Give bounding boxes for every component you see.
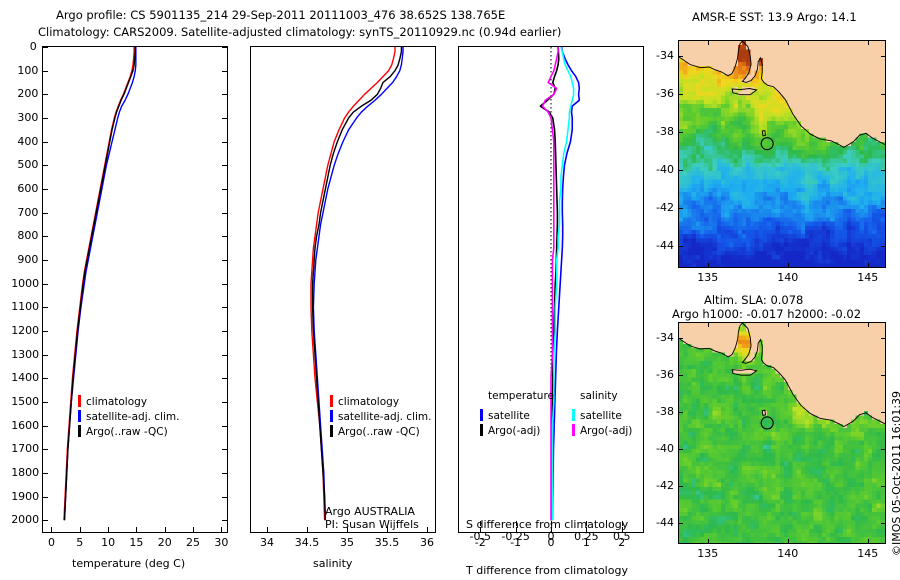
tick-mark — [708, 323, 709, 327]
tick-mark — [679, 94, 683, 95]
temp-legend-row: Argo(..raw -QC) — [78, 420, 168, 439]
depth-tick-400: 400 — [17, 135, 37, 148]
tick-mark — [679, 56, 683, 57]
tick-mark — [868, 41, 869, 45]
sla-map-ytick--40: -40 — [648, 442, 674, 455]
tick-mark — [427, 527, 428, 532]
sst-map-ytick--40: -40 — [648, 163, 674, 176]
page-title-line2: Climatology: CARS2009. Satellite-adjuste… — [38, 25, 561, 39]
tick-mark — [222, 520, 227, 521]
tick-mark — [222, 71, 227, 72]
tick-mark — [43, 118, 48, 119]
tick-mark — [43, 307, 48, 308]
tick-mark — [881, 338, 885, 339]
tick-mark — [222, 260, 227, 261]
sla-map-title-line2: Argo h1000: -0.017 h2000: -0.02 — [672, 307, 861, 321]
tick-mark — [222, 142, 227, 143]
tick-mark — [80, 527, 81, 532]
tick-mark — [43, 449, 48, 450]
depth-tick-900: 900 — [17, 253, 37, 266]
tick-mark — [868, 539, 869, 543]
tick-mark — [193, 527, 194, 532]
tick-mark — [43, 473, 48, 474]
sla-map-ytick--34: -34 — [648, 331, 674, 344]
sst-map-title: AMSR-E SST: 13.9 Argo: 14.1 — [692, 10, 857, 24]
depth-tick-0: 0 — [30, 40, 37, 53]
tick-mark — [43, 165, 48, 166]
tick-mark — [881, 449, 885, 450]
tick-mark — [708, 539, 709, 543]
difference-plot-panel — [458, 46, 644, 533]
sla-map-ytick--42: -42 — [648, 479, 674, 492]
sal-legend-row: Argo(..raw -QC) — [330, 420, 420, 439]
tick-mark — [43, 47, 48, 48]
sla-map-raster — [679, 323, 885, 543]
tick-mark — [222, 355, 227, 356]
temp-xtick-15: 15 — [129, 536, 143, 549]
tick-mark — [881, 486, 885, 487]
temp-xtick-30: 30 — [214, 536, 228, 549]
sla-map-ytick--36: -36 — [648, 368, 674, 381]
depth-tick-1000: 1000 — [11, 277, 37, 290]
tick-mark — [222, 94, 227, 95]
tick-mark — [43, 260, 48, 261]
salinity-profile-curves — [251, 47, 435, 532]
depth-tick-500: 500 — [17, 158, 37, 171]
tick-mark — [136, 527, 137, 532]
credit-org: Argo AUSTRALIA — [325, 505, 415, 518]
page-title-line1: Argo profile: CS 5901135_214 29-Sep-2011… — [56, 8, 505, 22]
tick-mark — [679, 412, 683, 413]
tick-mark — [708, 41, 709, 45]
sst-map-ytick--42: -42 — [648, 201, 674, 214]
sst-map-xtick-145: 145 — [854, 271, 882, 284]
sal-legend-label: Argo(..raw -QC) — [338, 426, 420, 438]
tick-mark — [222, 331, 227, 332]
diff-legend-sal-title: salinity — [580, 390, 618, 402]
diff-legend-temp-title: temperature — [488, 390, 554, 402]
tick-mark — [788, 323, 789, 327]
tick-mark — [43, 189, 48, 190]
sst-map-ytick--36: -36 — [648, 87, 674, 100]
temp-xtick-20: 20 — [158, 536, 172, 549]
tick-mark — [679, 208, 683, 209]
tick-mark — [788, 263, 789, 267]
tick-mark — [43, 213, 48, 214]
sst-map-raster — [679, 41, 885, 267]
sst-map-xtick-140: 140 — [774, 271, 802, 284]
tick-mark — [679, 246, 683, 247]
tick-mark — [222, 473, 227, 474]
tick-mark — [222, 284, 227, 285]
sal-xtick-35: 35 — [340, 536, 354, 549]
diff-legend-temp-swatch — [480, 424, 483, 436]
depth-tick-1300: 1300 — [11, 348, 37, 361]
difference-s-axis-label: S difference from climatology — [466, 518, 628, 531]
difference-profile-curves — [459, 47, 643, 532]
depth-tick-600: 600 — [17, 182, 37, 195]
tick-mark — [222, 449, 227, 450]
tick-mark — [881, 375, 885, 376]
sla-map-ytick--38: -38 — [648, 405, 674, 418]
depth-tick-1400: 1400 — [11, 371, 37, 384]
tick-mark — [43, 355, 48, 356]
sst-map[interactable] — [678, 40, 886, 268]
temp-xtick-5: 5 — [76, 536, 83, 549]
sla-map[interactable] — [678, 322, 886, 544]
tick-mark — [881, 56, 885, 57]
tick-mark — [43, 331, 48, 332]
tick-mark — [222, 497, 227, 498]
sst-map-ytick--38: -38 — [648, 125, 674, 138]
tick-mark — [881, 132, 885, 133]
tick-mark — [881, 523, 885, 524]
tick-mark — [881, 246, 885, 247]
tick-mark — [43, 94, 48, 95]
tick-mark — [679, 170, 683, 171]
sal-legend-swatch — [330, 425, 333, 437]
tick-mark — [708, 263, 709, 267]
temp-xtick-10: 10 — [101, 536, 115, 549]
tick-mark — [788, 539, 789, 543]
diff-S-xtick-0: 0 — [548, 530, 555, 543]
tick-mark — [788, 41, 789, 45]
tick-mark — [881, 412, 885, 413]
tick-mark — [222, 402, 227, 403]
tick-mark — [43, 236, 48, 237]
tick-mark — [43, 402, 48, 403]
temp-xtick-25: 25 — [186, 536, 200, 549]
sla-map-xtick-135: 135 — [694, 547, 722, 560]
tick-mark — [679, 132, 683, 133]
depth-tick-1700: 1700 — [11, 442, 37, 455]
tick-mark — [165, 527, 166, 532]
tick-mark — [43, 426, 48, 427]
diff-S-xtick--0.25: -0.25 — [498, 530, 533, 543]
diff-S-xtick-0.5: 0.5 — [611, 530, 632, 543]
tick-mark — [868, 323, 869, 327]
sal-xtick-36: 36 — [420, 536, 434, 549]
depth-tick-1100: 1100 — [11, 300, 37, 313]
temperature-x-axis-label: temperature (deg C) — [72, 557, 185, 570]
sla-map-ytick--44: -44 — [648, 516, 674, 529]
tick-mark — [51, 527, 52, 532]
tick-mark — [222, 426, 227, 427]
depth-tick-200: 200 — [17, 87, 37, 100]
tick-mark — [881, 170, 885, 171]
tick-mark — [108, 527, 109, 532]
sst-map-xtick-135: 135 — [694, 271, 722, 284]
depth-tick-300: 300 — [17, 111, 37, 124]
tick-mark — [222, 118, 227, 119]
sla-map-xtick-140: 140 — [774, 547, 802, 560]
tick-mark — [222, 47, 227, 48]
temperature-profile-curves — [43, 47, 227, 532]
temp-legend-label: Argo(..raw -QC) — [86, 426, 168, 438]
tick-mark — [222, 378, 227, 379]
sst-map-ytick--34: -34 — [648, 49, 674, 62]
depth-tick-1900: 1900 — [11, 490, 37, 503]
depth-tick-800: 800 — [17, 229, 37, 242]
tick-mark — [43, 71, 48, 72]
sal-xtick-35.5: 35.5 — [373, 536, 401, 549]
sal-xtick-34.5: 34.5 — [293, 536, 321, 549]
depth-tick-2000: 2000 — [11, 513, 37, 526]
tick-mark — [43, 378, 48, 379]
diff-S-xtick-0.25: 0.25 — [572, 530, 600, 543]
sal-xtick-34: 34 — [260, 536, 274, 549]
tick-mark — [881, 208, 885, 209]
tick-mark — [679, 523, 683, 524]
depth-tick-1500: 1500 — [11, 395, 37, 408]
imos-credit-vertical: ©IMOS 05-Oct-2011 16:01:39 — [890, 391, 900, 556]
tick-mark — [43, 497, 48, 498]
tick-mark — [222, 307, 227, 308]
depth-tick-1200: 1200 — [11, 324, 37, 337]
tick-mark — [43, 284, 48, 285]
tick-mark — [679, 338, 683, 339]
diff-legend-sal-label: Argo(-adj) — [580, 425, 632, 437]
temperature-plot-panel — [42, 46, 228, 533]
temp-xtick-0: 0 — [48, 536, 55, 549]
difference-t-axis-label: T difference from climatology — [466, 564, 628, 577]
tick-mark — [222, 236, 227, 237]
sst-map-ytick--44: -44 — [648, 239, 674, 252]
sla-map-title-line1: Altim. SLA: 0.078 — [704, 293, 803, 307]
tick-mark — [679, 375, 683, 376]
tick-mark — [881, 94, 885, 95]
credit-pi: PI: Susan Wijffels — [325, 518, 419, 531]
sla-map-xtick-145: 145 — [854, 547, 882, 560]
salinity-plot-panel — [250, 46, 436, 533]
diff-S-xtick--0.5: -0.5 — [466, 530, 494, 543]
depth-tick-700: 700 — [17, 206, 37, 219]
depth-tick-1600: 1600 — [11, 419, 37, 432]
tick-mark — [43, 520, 48, 521]
salinity-x-axis-label: salinity — [313, 557, 352, 570]
temp-legend-swatch — [78, 425, 81, 437]
diff-legend-sal-row: Argo(-adj) — [572, 419, 632, 438]
depth-tick-100: 100 — [17, 64, 37, 77]
diff-legend-temp-row: Argo(-adj) — [480, 419, 540, 438]
tick-mark — [679, 449, 683, 450]
diff-legend-temp-label: Argo(-adj) — [488, 425, 540, 437]
tick-mark — [222, 189, 227, 190]
tick-mark — [221, 527, 222, 532]
tick-mark — [307, 527, 308, 532]
depth-tick-1800: 1800 — [11, 466, 37, 479]
tick-mark — [679, 486, 683, 487]
tick-mark — [43, 142, 48, 143]
tick-mark — [267, 527, 268, 532]
tick-mark — [222, 165, 227, 166]
tick-mark — [222, 213, 227, 214]
tick-mark — [868, 263, 869, 267]
diff-legend-sal-swatch — [572, 424, 575, 436]
